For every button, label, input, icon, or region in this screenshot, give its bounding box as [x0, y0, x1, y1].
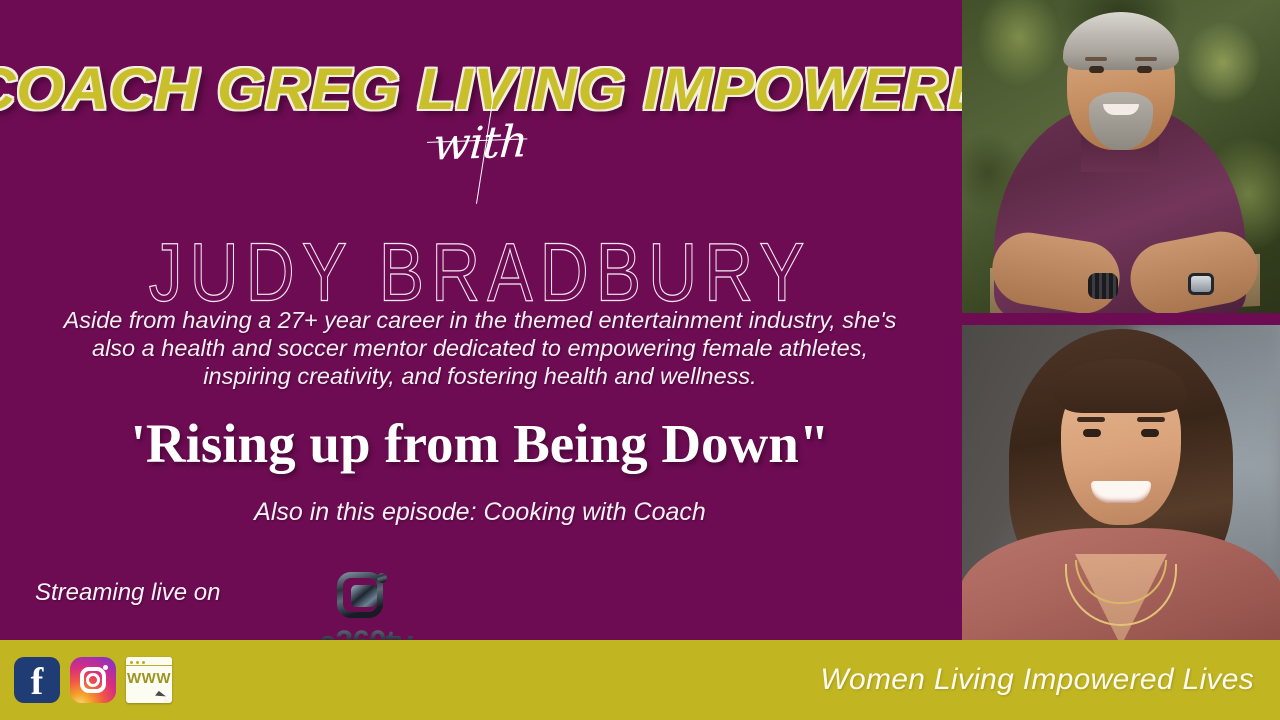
episode-title: 'Rising up from Being Down" [0, 412, 960, 475]
host-eyebrow-left [1085, 57, 1107, 61]
guest-smile [1091, 481, 1151, 503]
episode-subtitle: Also in this episode: Cooking with Coach [0, 498, 960, 527]
website-glyph: WWW [126, 670, 172, 687]
cursor-arrow-icon [155, 691, 166, 701]
facebook-glyph: f [14, 661, 60, 703]
guest-eye-left [1083, 429, 1101, 437]
instagram-icon[interactable] [70, 657, 116, 703]
host-smile [1103, 104, 1139, 115]
with-word: with [431, 116, 529, 170]
social-links: f WWW [14, 657, 172, 703]
browser-titlebar [126, 657, 172, 666]
host-eye-left [1089, 66, 1104, 73]
guest-photo [962, 325, 1280, 640]
host-bracelet [1088, 273, 1118, 299]
footer-tagline: Women Living Impowered Lives [820, 663, 1260, 697]
facebook-icon[interactable]: f [14, 657, 60, 703]
host-eyebrow-right [1135, 57, 1157, 61]
host-watch [1188, 273, 1214, 295]
show-title: COACH GREG LIVING IMPOWERED [0, 56, 989, 123]
streaming-label: Streaming live on [35, 579, 220, 607]
guest-eyebrow-left [1077, 417, 1105, 422]
guest-eye-right [1141, 429, 1159, 437]
content-column: COACH GREG LIVING IMPOWERED with JUDY BR… [0, 0, 960, 640]
host-photo [962, 0, 1280, 313]
website-icon[interactable]: WWW [126, 657, 172, 703]
guest-eyebrow-right [1137, 417, 1165, 422]
promo-poster: COACH GREG LIVING IMPOWERED with JUDY BR… [0, 0, 1280, 720]
guest-bio: Aside from having a 27+ year career in t… [55, 306, 905, 390]
instagram-dot [103, 665, 108, 670]
e360tv-camera-icon [335, 565, 395, 623]
footer-bar: f WWW Women Living Impowered Lives [0, 640, 1280, 720]
instagram-lens [86, 673, 100, 687]
host-eye-right [1137, 66, 1152, 73]
with-connector: with [0, 118, 960, 169]
